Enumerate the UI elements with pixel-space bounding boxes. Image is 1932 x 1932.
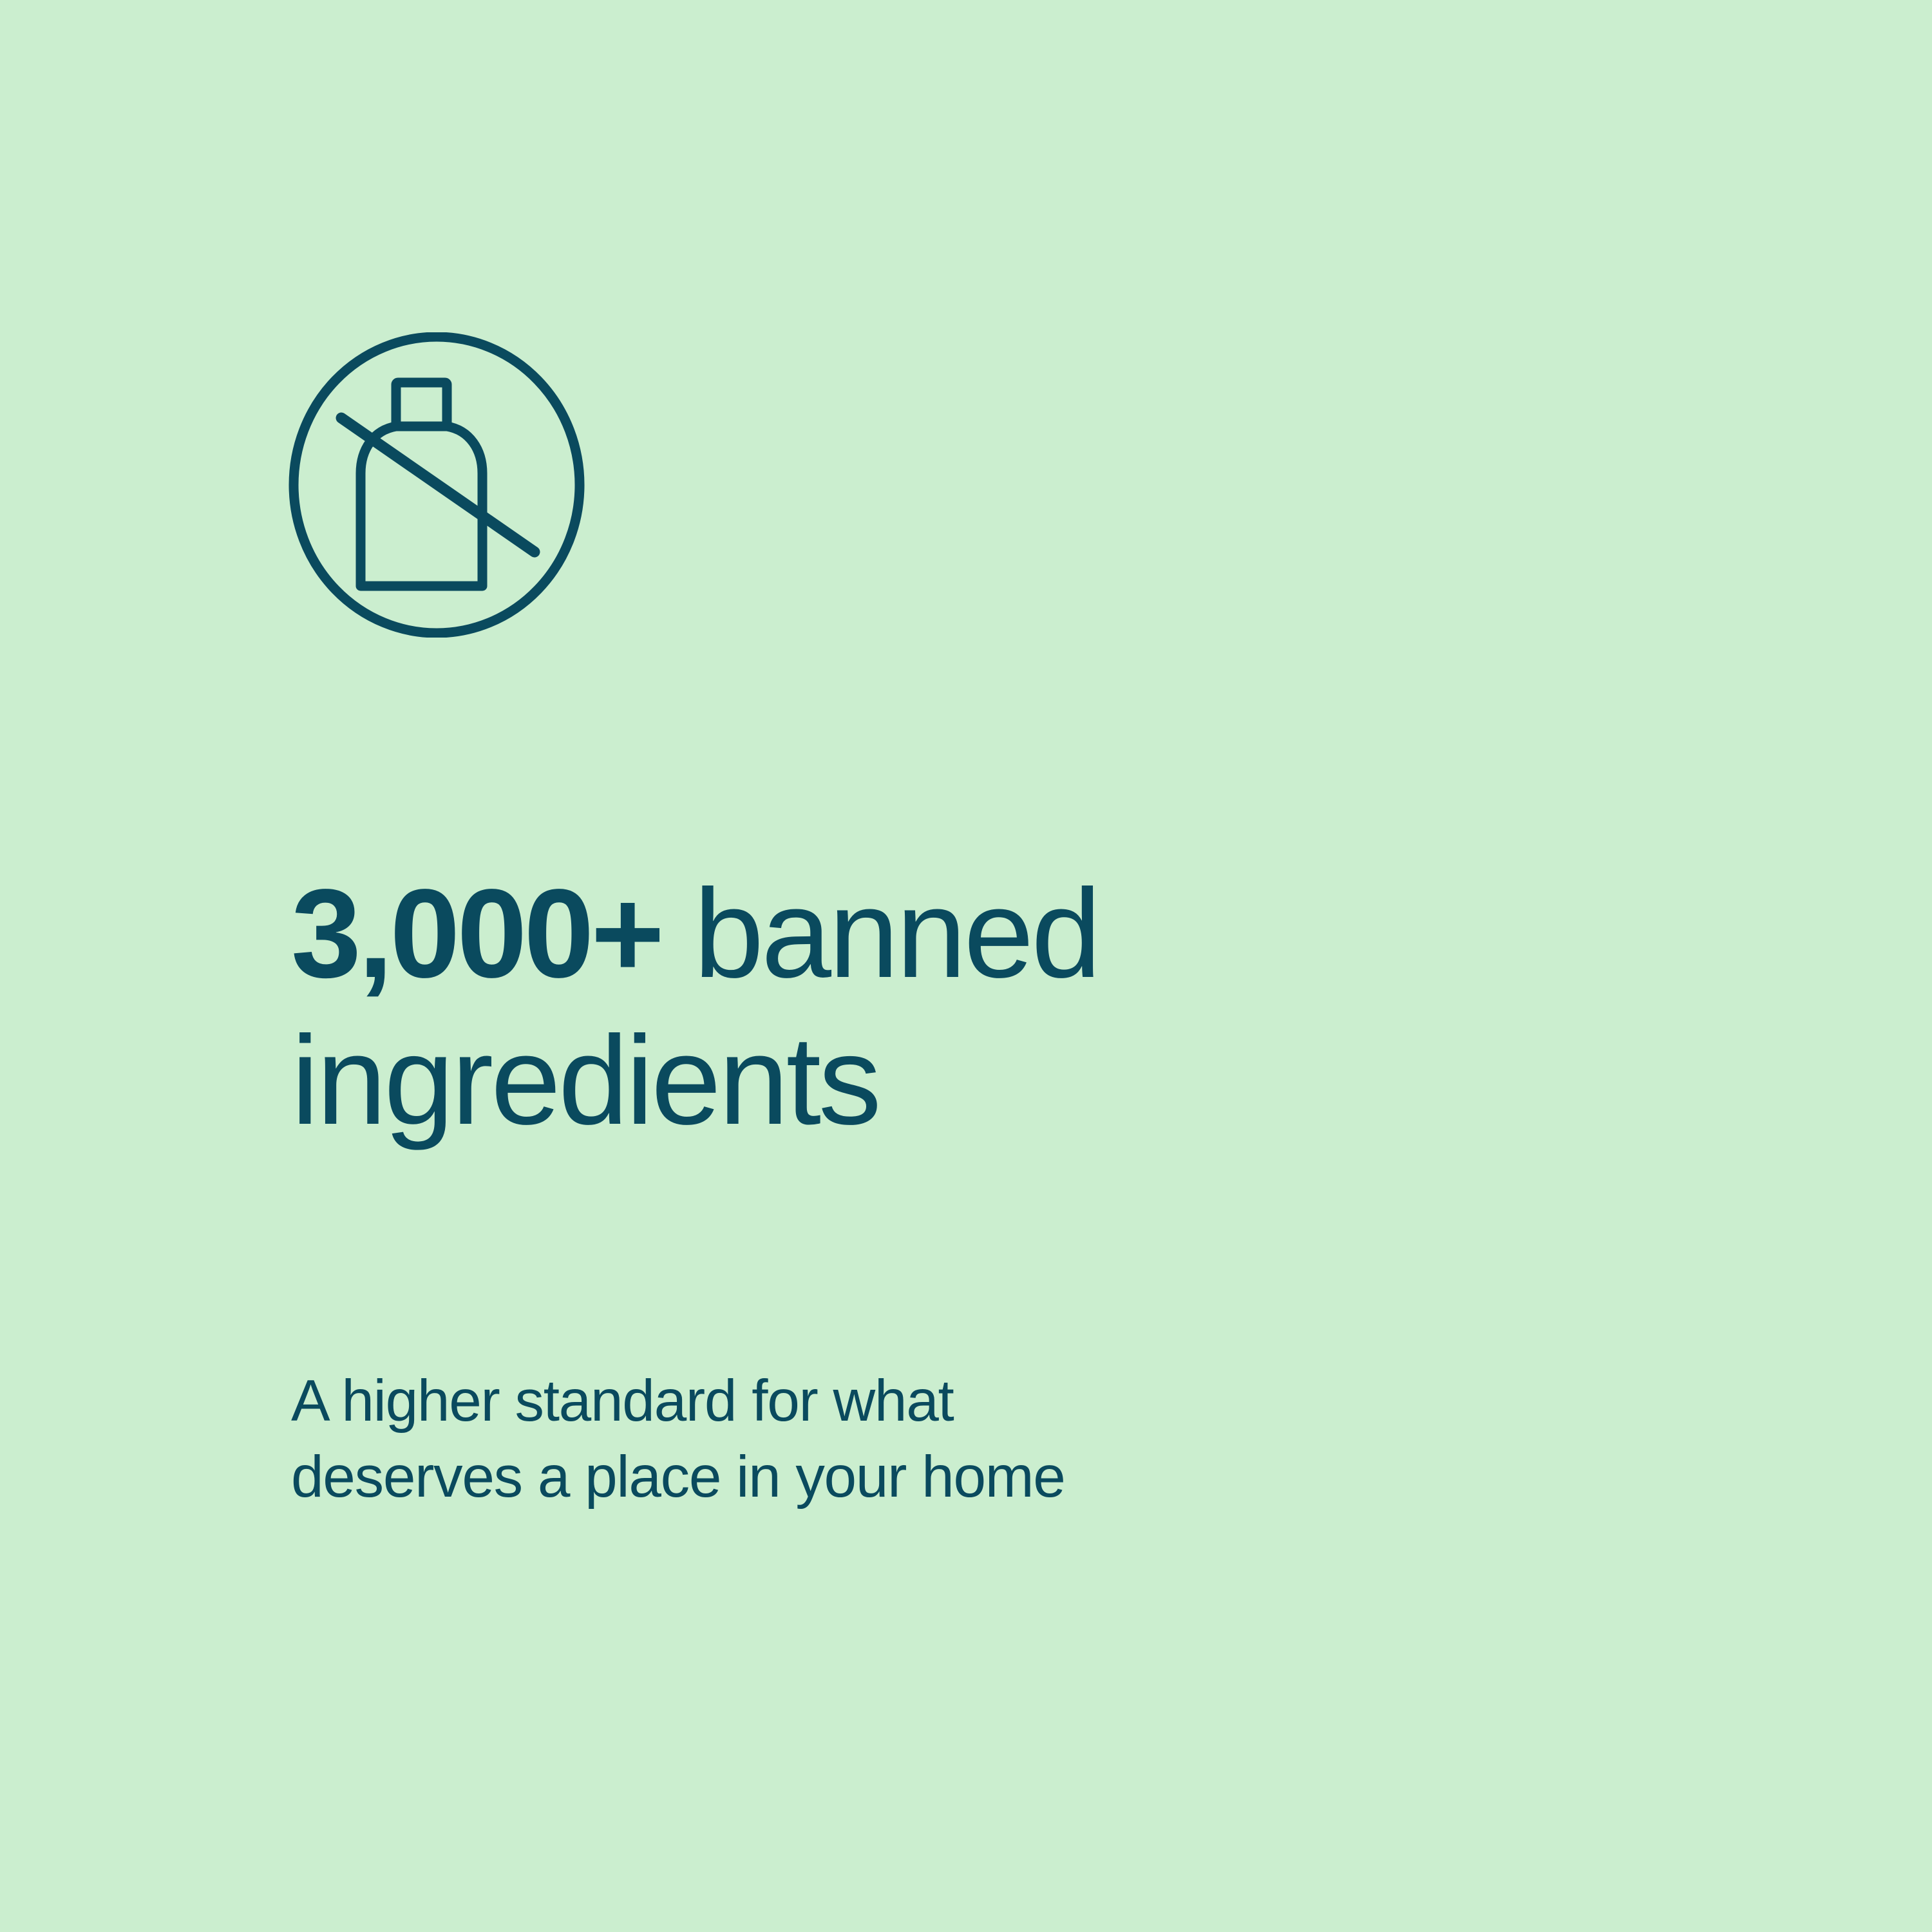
promo-card: 3,000+ bannedingredients A higher standa… bbox=[0, 0, 1932, 1932]
subtitle-line-2: deserves a place in your home bbox=[291, 1439, 1708, 1515]
no-bottle-icon-graphic bbox=[289, 332, 585, 638]
slash-line bbox=[341, 418, 535, 552]
headline-rest: banned bbox=[661, 863, 1099, 1004]
bottle-cap bbox=[396, 383, 447, 426]
headline-line-2: ingredients bbox=[291, 1010, 879, 1151]
subtitle-line-1: A higher standard for what bbox=[291, 1363, 1708, 1439]
no-bottle-icon bbox=[289, 332, 585, 638]
headline-emphasis: 3,000+ bbox=[291, 863, 661, 1004]
page-title: 3,000+ bannedingredients bbox=[291, 860, 1676, 1153]
page-subtitle: A higher standard for whatdeserves a pla… bbox=[291, 1363, 1708, 1516]
